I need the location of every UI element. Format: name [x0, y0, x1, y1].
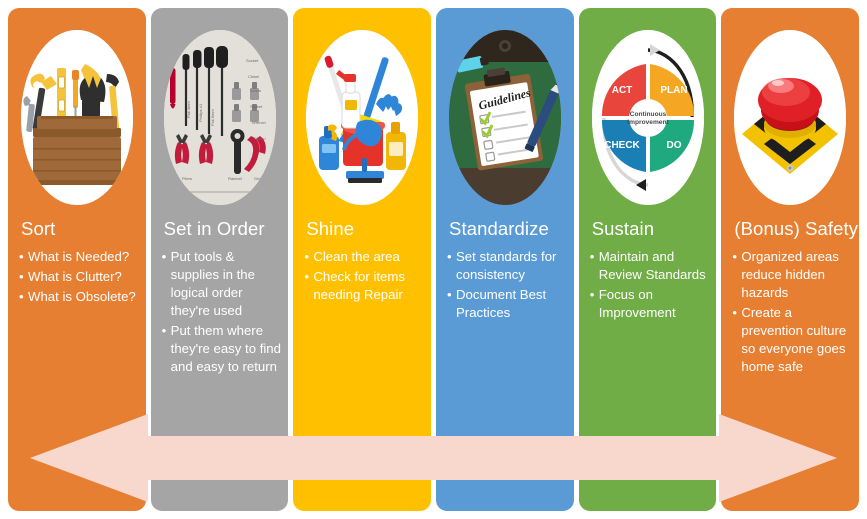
- bullet-item: Put them where they're easy to find and …: [162, 322, 282, 376]
- column-bullets: Organized areas reduce hidden hazards Cr…: [732, 248, 852, 379]
- bullet-item: Put tools & supplies in the logical orde…: [162, 248, 282, 320]
- bullet-item: Document Best Practices: [447, 286, 567, 322]
- bullet-item: Organized areas reduce hidden hazards: [732, 248, 852, 302]
- 5s-columns: Sort What is Needed? What is Clutter? Wh…: [0, 8, 867, 511]
- svg-text:Screw: Screw: [250, 88, 261, 93]
- column-sort[interactable]: Sort What is Needed? What is Clutter? Wh…: [8, 8, 146, 511]
- column-heading: Sustain: [592, 218, 654, 240]
- bullet-item: Create a prevention culture so everyone …: [732, 304, 852, 376]
- column-bullets: Maintain and Review Standards Focus on I…: [590, 248, 710, 324]
- svg-text:Phillips #1: Phillips #1: [198, 103, 203, 122]
- bullet-item: Maintain and Review Standards: [590, 248, 710, 284]
- infographic-board: Sort What is Needed? What is Clutter? Wh…: [0, 0, 867, 519]
- column-bullets: Clean the area Check for items needing R…: [304, 248, 424, 306]
- bullet-item: What is Obsolete?: [19, 288, 139, 306]
- svg-text:Socket: Socket: [246, 58, 259, 63]
- svg-text:Ratchet: Ratchet: [228, 176, 243, 181]
- column-heading: Shine: [306, 218, 354, 240]
- pdca-label-check: CHECK: [604, 140, 640, 151]
- bullet-item: Clean the area: [304, 248, 424, 266]
- pdca-center-line1: Continuous: [629, 111, 666, 118]
- svg-text:Flat 4mm: Flat 4mm: [186, 101, 191, 118]
- cleaning-supplies-image: [306, 30, 418, 205]
- pdca-label-do: DO: [666, 140, 681, 151]
- column-bullets: Set standards for consistency Document B…: [447, 248, 567, 324]
- svg-text:Wrench: Wrench: [252, 120, 266, 125]
- bullet-item: Focus on Improvement: [590, 286, 710, 322]
- svg-text:Socket: Socket: [250, 104, 263, 109]
- column-sustain[interactable]: Continuous Improvement ACT PLAN CHECK DO…: [579, 8, 717, 511]
- pdca-center-line2: Improvement: [627, 119, 669, 126]
- pdca-label-act: ACT: [611, 85, 632, 96]
- column-bullets: What is Needed? What is Clutter? What is…: [19, 248, 139, 308]
- column-heading: Standardize: [449, 218, 549, 240]
- svg-text:Grip: Grip: [254, 176, 262, 181]
- svg-text:Clamp: Clamp: [254, 136, 266, 141]
- column-heading: Set in Order: [164, 218, 265, 240]
- column-heading: (Bonus) Safety: [734, 218, 858, 240]
- bullet-item: Check for items needing Repair: [304, 268, 424, 304]
- bullet-item: What is Clutter?: [19, 268, 139, 286]
- pdca-cycle-image: Continuous Improvement ACT PLAN CHECK DO: [592, 30, 704, 205]
- bullet-item: Set standards for consistency: [447, 248, 567, 284]
- svg-text:Chisel: Chisel: [248, 74, 259, 79]
- column-bullets: Put tools & supplies in the logical orde…: [162, 248, 282, 379]
- column-shine[interactable]: Shine Clean the area Check for items nee…: [293, 8, 431, 511]
- svg-text:Flat 6mm: Flat 6mm: [210, 109, 215, 126]
- column-heading: Sort: [21, 218, 55, 240]
- bullet-item: What is Needed?: [19, 248, 139, 266]
- pdca-label-plan: PLAN: [660, 85, 687, 96]
- toolbox-with-tools-image: [21, 30, 133, 205]
- column-standardize[interactable]: Guidelines: [436, 8, 574, 511]
- column-set-in-order[interactable]: Socket Chisel Screw Socket Wrench Clamp …: [151, 8, 289, 511]
- shadow-board-tools-image: Socket Chisel Screw Socket Wrench Clamp …: [164, 30, 276, 205]
- column-bonus-safety[interactable]: (Bonus) Safety Organized areas reduce hi…: [721, 8, 859, 511]
- guidelines-clipboard-image: Guidelines: [449, 30, 561, 205]
- emergency-stop-button-image: [734, 30, 846, 205]
- svg-text:Pliers: Pliers: [182, 176, 192, 181]
